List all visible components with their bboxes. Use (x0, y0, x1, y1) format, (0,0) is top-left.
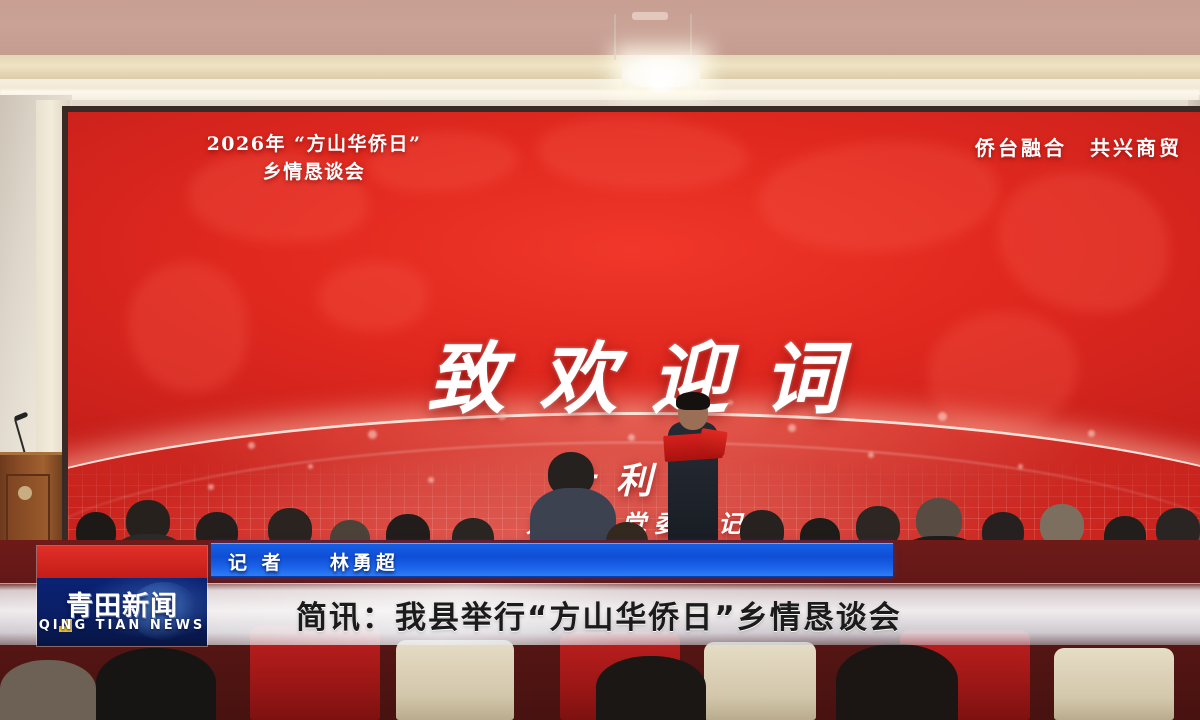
ceiling-vent-icon (632, 12, 668, 20)
reporter-credit: 记 者 林勇超 (228, 548, 399, 575)
podium-emblem (18, 486, 32, 500)
led-event-title-line1: 2026年 “方山华侨日” (104, 130, 524, 158)
foreground-audience-head (0, 660, 96, 720)
light-particle (248, 442, 255, 449)
presenter-hair (676, 392, 710, 410)
channel-logo-english: QING TIAN NEWS (37, 618, 207, 633)
channel-logo: 青田新闻 QING TIAN NEWS (36, 545, 208, 647)
world-map-shape (538, 118, 748, 190)
podium-front-panel (6, 474, 50, 548)
led-screen: 2026年 “方山华侨日” 乡情恳谈会 侨台融合 共兴商贸 致欢迎词 叶利永 方… (68, 112, 1200, 568)
led-main-title: 致欢迎词 (68, 317, 1200, 429)
world-map-shape (758, 142, 998, 252)
led-slogan: 侨台融合 共兴商贸 (975, 132, 1182, 161)
ceiling (0, 0, 1200, 58)
red-folder-right (698, 428, 727, 456)
foreground-audience-head (596, 656, 706, 720)
reporter-name: 林勇超 (330, 552, 399, 574)
ceiling-trim-band (0, 55, 1200, 81)
pendant-wire-left (614, 14, 616, 60)
light-particle (628, 434, 635, 441)
world-map-shape (998, 172, 1168, 312)
foreground-audience-head (96, 648, 216, 720)
audience-chair-cream (704, 642, 816, 720)
light-flare (648, 79, 674, 91)
headline-text: 简讯：我县举行“方山华侨日”乡情恳谈会 (296, 592, 902, 637)
video-frame: 2026年 “方山华侨日” 乡情恳谈会 侨台融合 共兴商贸 致欢迎词 叶利永 方… (0, 0, 1200, 720)
led-event-title: 2026年 “方山华侨日” 乡情恳谈会 (104, 130, 524, 186)
audience-chair-cream (396, 640, 514, 720)
reporter-label: 记 者 (228, 552, 285, 574)
led-event-title-line2: 乡情恳谈会 (104, 158, 524, 186)
audience-chair-cream (1054, 648, 1174, 720)
channel-logo-red-band (37, 546, 207, 578)
pendant-wire-right (690, 14, 692, 60)
led-speaker-name: 叶利永 (68, 452, 1200, 504)
foreground-audience-head (836, 644, 958, 720)
light-particle (1088, 430, 1095, 437)
light-particle (368, 430, 377, 439)
